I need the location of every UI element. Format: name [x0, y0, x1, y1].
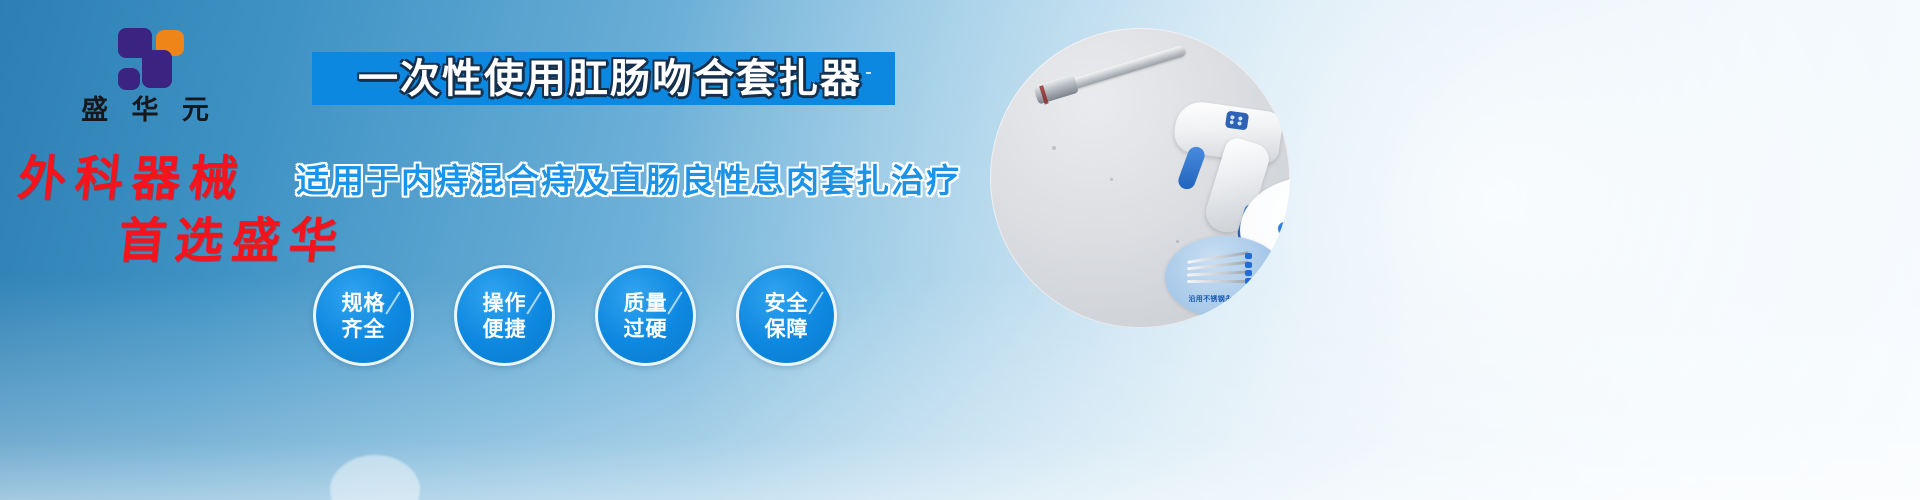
- photo-speck: [1052, 146, 1056, 150]
- photo-speck: [1110, 178, 1113, 181]
- sparkle-icon: [866, 72, 871, 74]
- needle: [1187, 280, 1249, 283]
- needle: [1187, 270, 1249, 276]
- feature-badge[interactable]: 操作 便捷: [454, 265, 555, 366]
- feature-badge-list: 规格 齐全 操作 便捷 质量 过硬 安全 保障: [313, 265, 873, 365]
- page-title: 一次性使用肛肠吻合套扎器: [330, 53, 890, 105]
- brand-logo-block[interactable]: 盛 华 元: [60, 28, 230, 128]
- feature-badge[interactable]: 质量 过硬: [595, 265, 696, 366]
- feature-badge-line-2: 齐全: [342, 316, 386, 342]
- background-highlight: [330, 455, 420, 500]
- shengxhuayuan-blocks-logo-icon: [104, 28, 186, 90]
- feature-badge-line-2: 保障: [765, 316, 809, 342]
- feature-badge-line-1: 质量: [624, 290, 668, 316]
- page-subtitle: 适用于内痔混合痔及直肠良性息肉套扎治疗: [296, 158, 916, 204]
- feature-badge-line-1: 规格: [342, 290, 386, 316]
- cylinder-cap: [1285, 321, 1290, 328]
- needle-head: [1245, 262, 1252, 268]
- photo-speck: [1176, 240, 1179, 243]
- logo-block-shape: [118, 68, 140, 90]
- feature-badge-line-2: 过硬: [624, 316, 668, 342]
- feature-badge-line-1: 操作: [483, 290, 527, 316]
- slash-icon: [808, 291, 823, 314]
- slash-icon: [526, 291, 541, 314]
- feature-badge[interactable]: 规格 齐全: [313, 265, 414, 366]
- applicator-button-dots-icon: [1228, 114, 1245, 127]
- feature-badge-line-2: 便捷: [483, 316, 527, 342]
- product-photo: 高弹力胶圈 收缩更紧 沿用不锈钢永久储量器: [990, 28, 1290, 328]
- rubber-ring: [1278, 222, 1290, 235]
- logo-block-shape: [146, 54, 158, 66]
- needle-head: [1245, 278, 1252, 284]
- needle-head: [1245, 270, 1252, 276]
- applicator-trigger: [1176, 144, 1207, 191]
- slash-icon: [667, 291, 682, 314]
- feature-badge-line-1: 安全: [765, 290, 809, 316]
- calligraphy-line-2: 首选盛华: [115, 214, 361, 268]
- product-banner: 盛 华 元 外科器械 首选盛华 一次性使用肛肠吻合套扎器 适用于内痔混合痔及直肠…: [0, 0, 1920, 500]
- sparkle-icon: [852, 78, 859, 80]
- needle-head: [1245, 253, 1252, 259]
- feature-badge[interactable]: 安全 保障: [736, 265, 837, 366]
- brand-name: 盛 华 元: [60, 94, 230, 128]
- cylinder-body: [1233, 317, 1290, 328]
- slash-icon: [385, 291, 400, 314]
